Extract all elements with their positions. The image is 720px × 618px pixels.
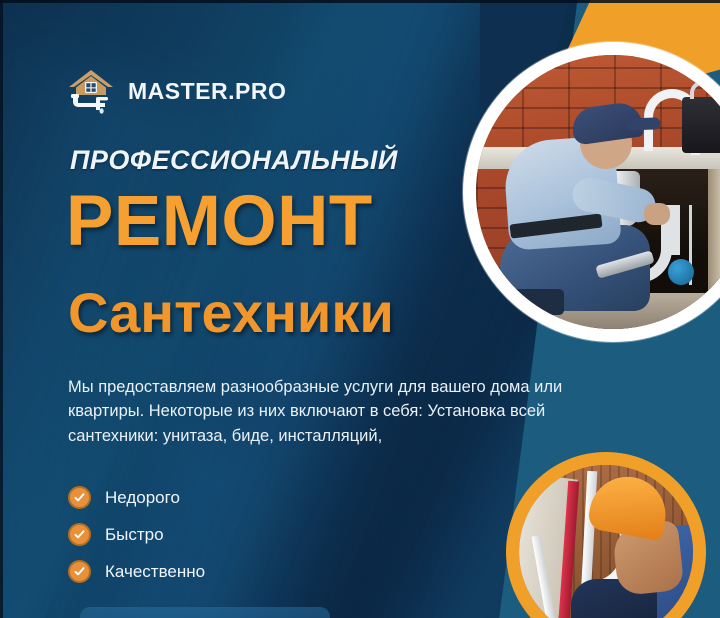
description-paragraph: Мы предоставляем разнообразные услуги дл… xyxy=(68,375,573,448)
benefits-list: Недорого Быстро Качественно xyxy=(68,486,205,583)
list-item: Быстро xyxy=(68,523,205,546)
plumber-shoe xyxy=(500,289,564,315)
page-title: РЕМОНТ xyxy=(66,188,373,255)
top-edge-border xyxy=(0,0,720,3)
worker-installing-pipes-photo xyxy=(519,465,693,618)
check-circle-icon xyxy=(68,560,91,583)
cta-button[interactable] xyxy=(80,607,330,618)
page-subtitle: Сантехники xyxy=(68,285,394,341)
list-item-label: Качественно xyxy=(105,562,205,582)
list-item-label: Недорого xyxy=(105,488,180,508)
blue-valve-cap xyxy=(668,259,694,285)
hero-photo-ring xyxy=(463,42,720,342)
secondary-photo-ring xyxy=(506,452,706,618)
list-item-label: Быстро xyxy=(105,525,164,545)
cabinet-door xyxy=(708,169,720,301)
brand-name: MASTER.PRO xyxy=(128,78,286,105)
check-circle-icon xyxy=(68,486,91,509)
list-item: Качественно xyxy=(68,560,205,583)
kicker-text: ПРОФЕССИОНАЛЬНЫЙ xyxy=(70,145,398,176)
brand-logo[interactable]: MASTER.PRO xyxy=(66,66,286,116)
left-edge-border xyxy=(0,0,3,618)
plumber-hand xyxy=(644,203,670,225)
house-faucet-icon xyxy=(66,66,116,116)
list-item: Недорого xyxy=(68,486,205,509)
plumber-repairing-sink-photo xyxy=(476,55,720,329)
check-circle-icon xyxy=(68,523,91,546)
poster-canvas: MASTER.PRO ПРОФЕССИОНАЛЬНЫЙ РЕМОНТ Санте… xyxy=(0,0,720,618)
tool-bag xyxy=(682,97,720,153)
